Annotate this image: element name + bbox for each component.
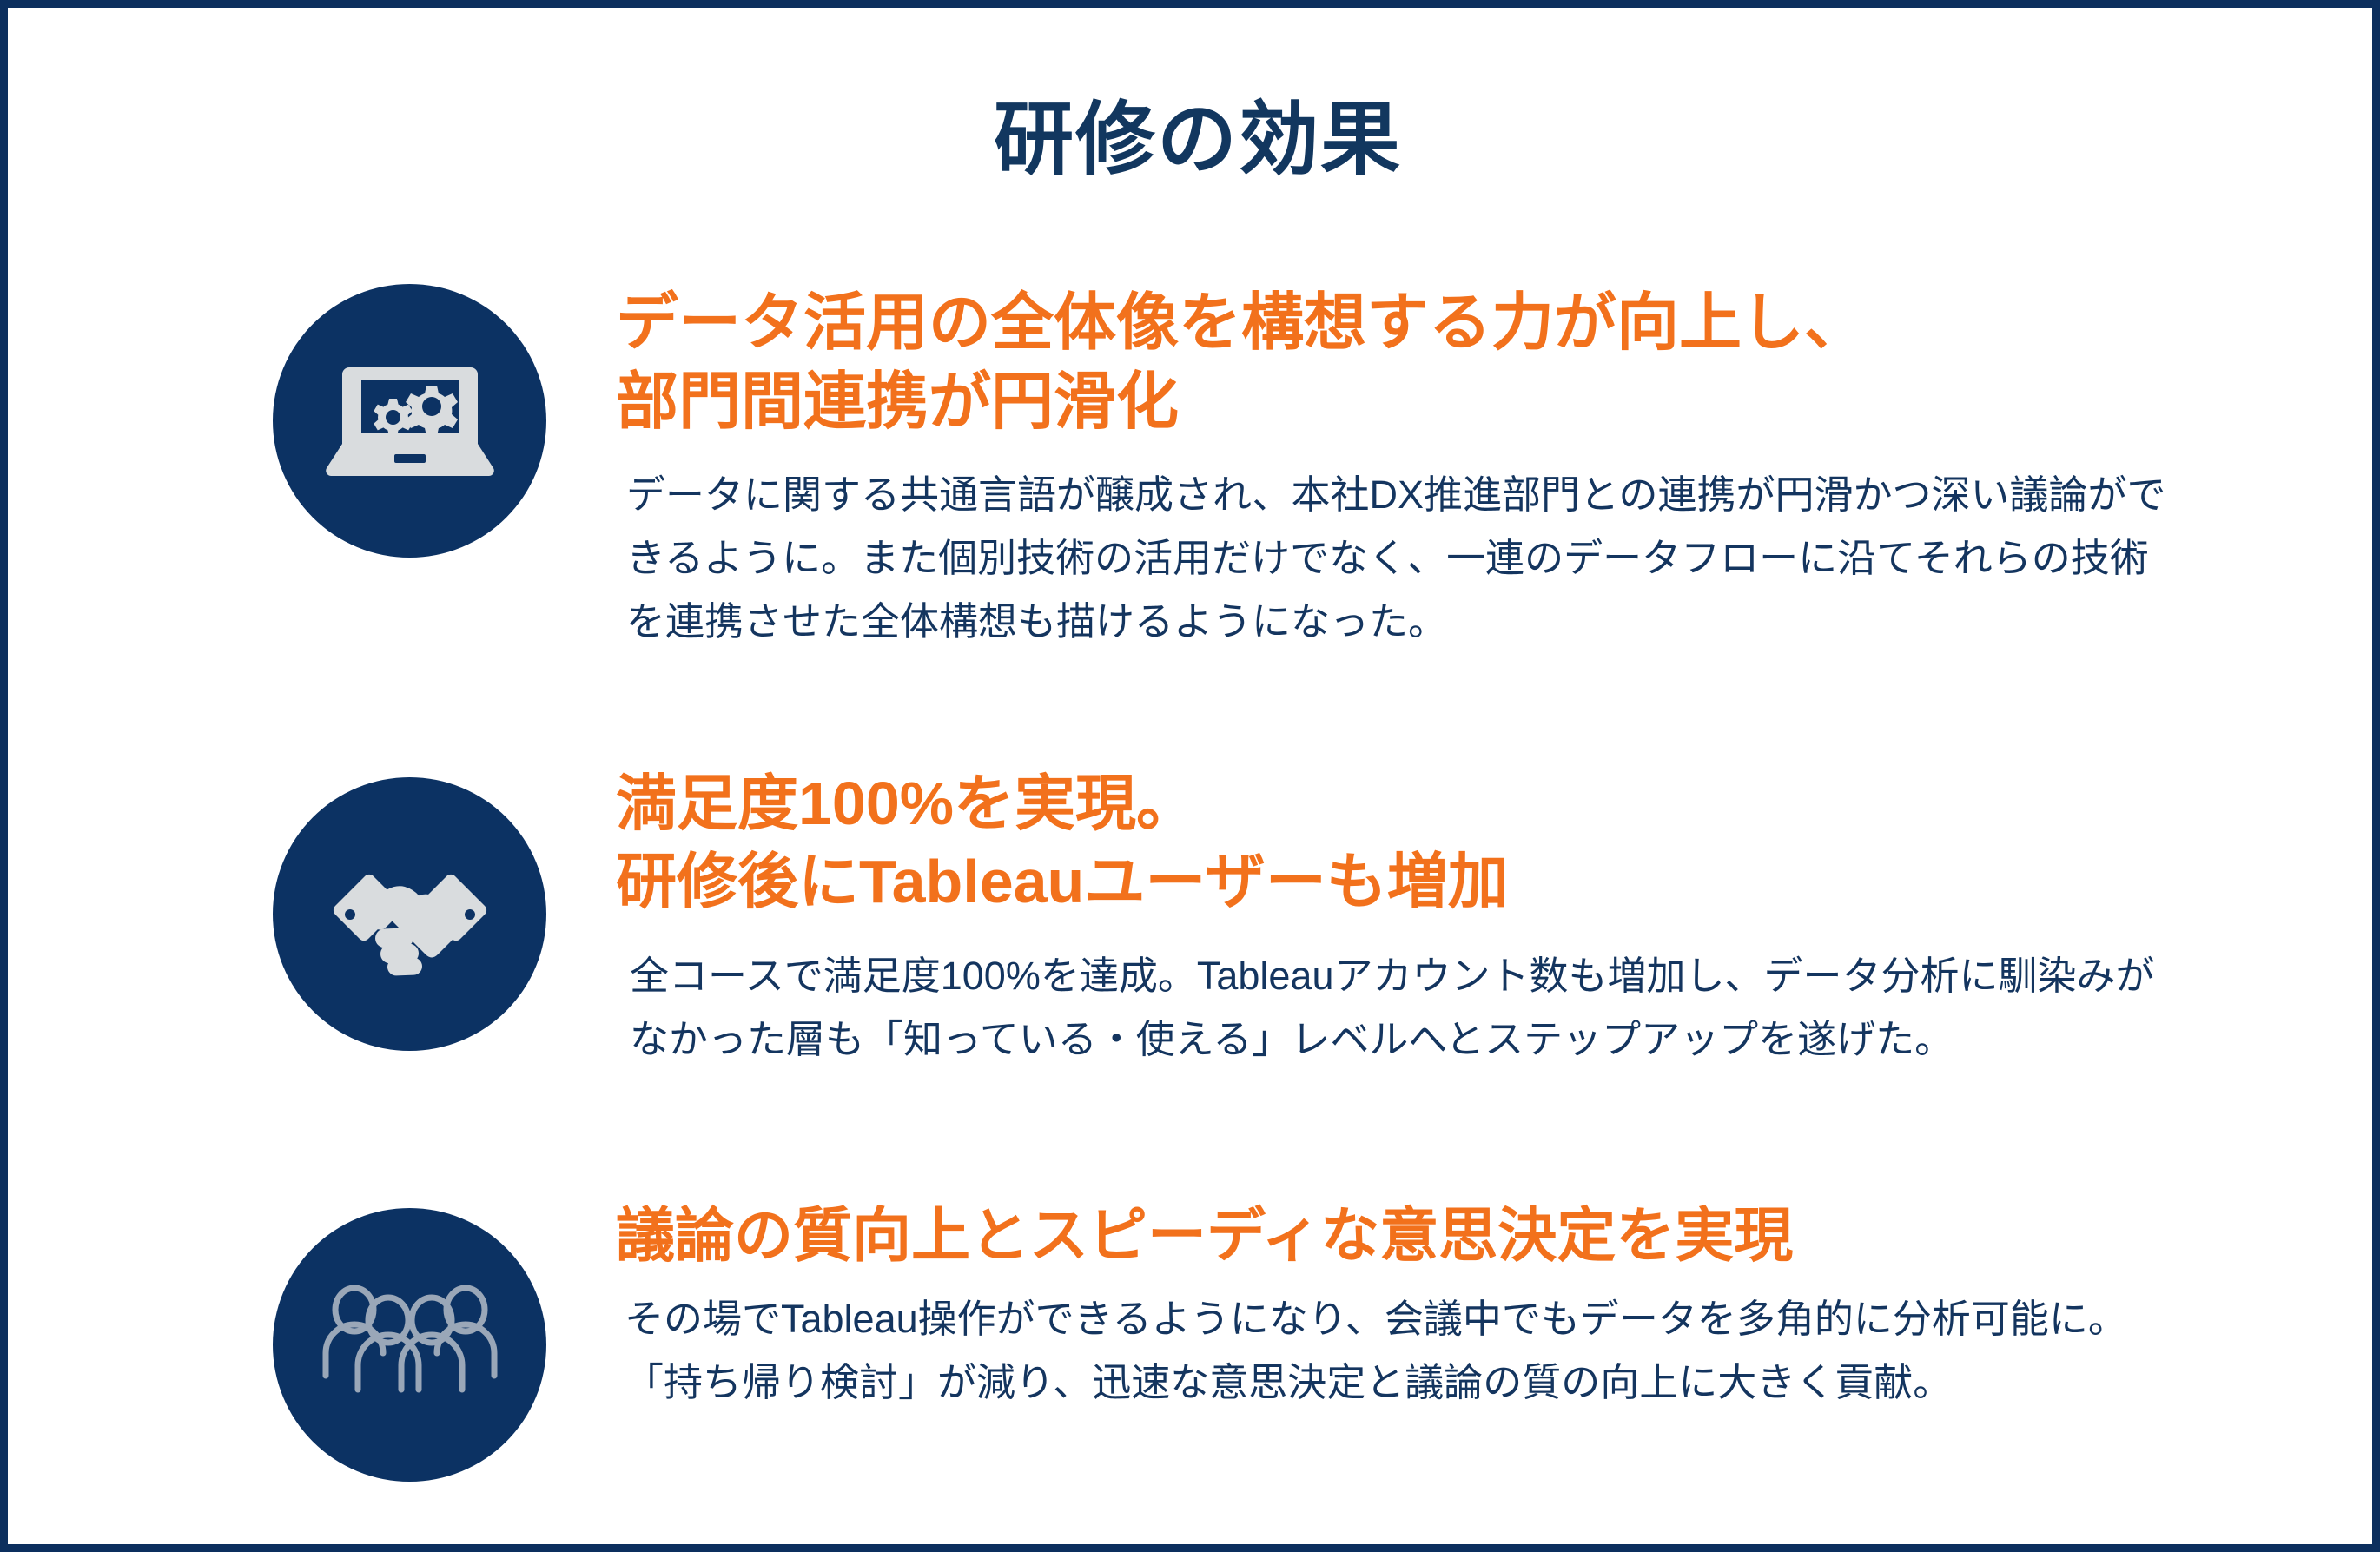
section-2-heading: 満足度100%を実現。 研修後にTableauユーザーも増加 [616, 765, 2171, 921]
section-3-body: 議論の質向上とスピーディな意思決定を実現 その場でTableau操作ができるよう… [616, 1199, 2171, 1414]
laptop-gears-icon [323, 352, 497, 491]
handshake-icon [323, 845, 497, 984]
section-1-body: データ活用の全体像を構想する力が向上し、 部門間連携が円滑化 データに関する共通… [616, 284, 2171, 654]
page-title: 研修の効果 [8, 95, 2380, 187]
people-group-icon [319, 1280, 501, 1410]
section-2-body: 満足度100%を実現。 研修後にTableauユーザーも増加 全コースで満足度1… [616, 765, 2171, 1072]
laptop-gears-icon-badge [273, 284, 546, 558]
slide-root: 研修の効果 [0, 0, 2380, 1552]
section-1-heading: データ活用の全体像を構想する力が向上し、 部門間連携が円滑化 [616, 284, 2171, 441]
section-3-text: その場でTableau操作ができるようになり、会議中でもデータを多角的に分析可能… [616, 1288, 2171, 1415]
handshake-icon-badge [273, 777, 546, 1051]
section-2-text: 全コースで満足度100%を達成。Tableauアカウント数も増加し、データ分析に… [616, 945, 2171, 1072]
section-1-text: データに関する共通言語が醸成され、本社DX推進部門との連携が円滑かつ深い議論がで… [616, 464, 2171, 654]
people-group-icon-badge [273, 1208, 546, 1482]
section-3-heading: 議論の質向上とスピーディな意思決定を実現 [616, 1199, 2171, 1274]
